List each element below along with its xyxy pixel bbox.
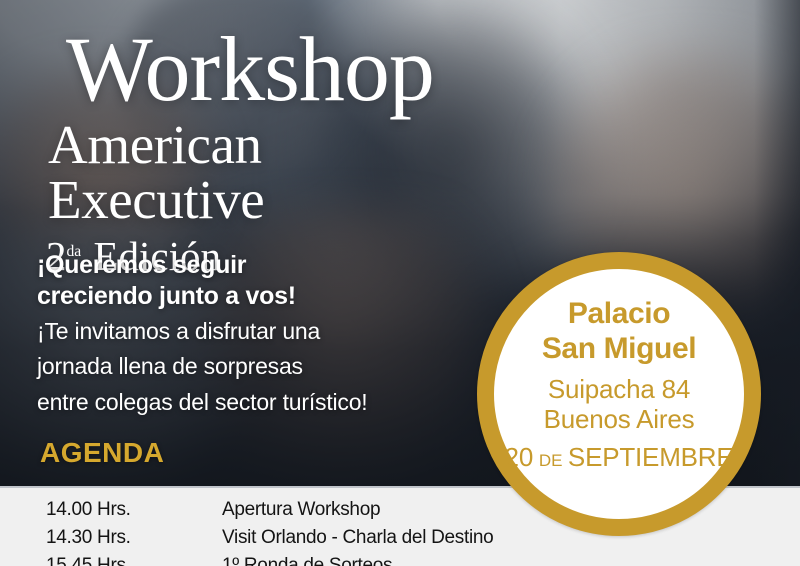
agenda-row-time: 14.00 Hrs. [46,499,222,527]
agenda-row-activity: 1º Ronda de Sorteos [222,555,493,566]
agenda-row-time: 15.45 Hrs. [46,555,222,566]
venue-name-line-2: San Miguel [542,332,696,367]
agenda-row-activity: Visit Orlando - Charla del Destino [222,527,493,555]
venue-date-connector: DE [538,451,564,470]
venue-address-line-1: Suipacha 84 [548,374,690,405]
agenda-table-body: 14.00 Hrs. Apertura Workshop 14.30 Hrs. … [46,499,493,566]
photo-right-vignette [754,0,800,486]
agenda-table: 14.00 Hrs. Apertura Workshop 14.30 Hrs. … [46,499,493,566]
event-flyer: Workshop American Executive 2da Edición … [0,0,800,566]
agenda-heading: AGENDA [40,437,164,469]
lead-normal-line-1: ¡Te invitamos a disfrutar una [37,317,457,346]
venue-date: 20 DE SEPTIEMBRE [504,444,733,470]
lead-strong-line-1: ¡Queremos seguir [37,250,457,281]
agenda-row-activity: Apertura Workshop [222,499,493,527]
headline-block: Workshop American Executive 2da Edición [0,0,470,277]
title-american-executive: American Executive [0,113,470,227]
table-row: 14.00 Hrs. Apertura Workshop [46,499,493,527]
venue-date-day: 20 [504,442,533,472]
venue-name-line-1: Palacio [568,297,670,332]
table-row: 14.30 Hrs. Visit Orlando - Charla del De… [46,527,493,555]
venue-badge: Palacio San Miguel Suipacha 84 Buenos Ai… [477,252,761,536]
venue-date-month: SEPTIEMBRE [568,442,734,472]
agenda-row-time: 14.30 Hrs. [46,527,222,555]
lead-normal-line-3: entre colegas del sector turístico! [37,388,457,417]
title-workshop: Workshop [0,0,470,113]
lead-normal-line-2: jornada llena de sorpresas [37,352,457,381]
venue-address-line-2: Buenos Aires [544,404,695,435]
table-row: 15.45 Hrs. 1º Ronda de Sorteos [46,555,493,566]
lead-copy-block: ¡Queremos seguir creciendo junto a vos! … [37,250,457,417]
lead-strong-line-2: creciendo junto a vos! [37,281,457,312]
